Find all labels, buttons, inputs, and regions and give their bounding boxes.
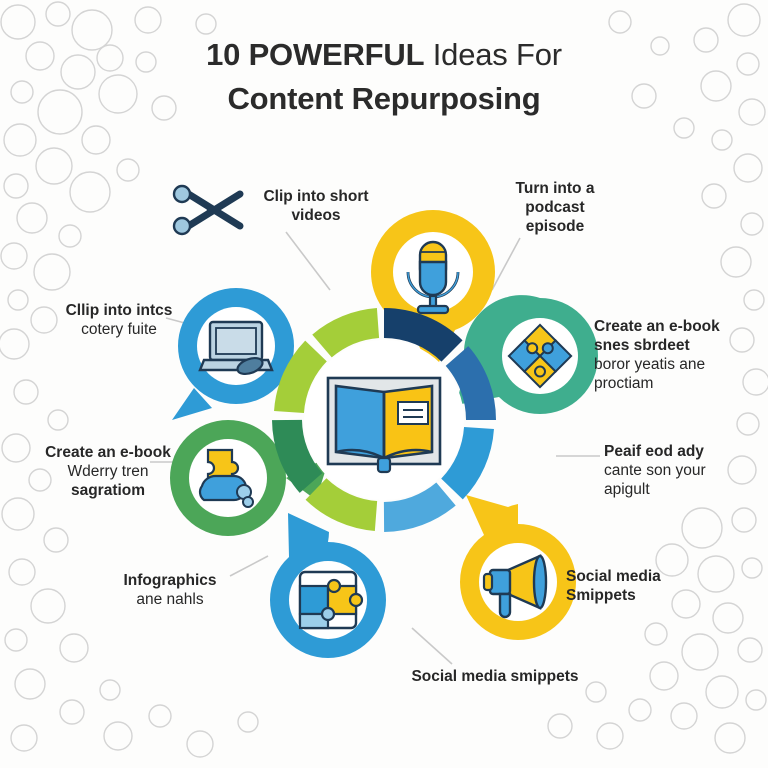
label-turn-into-a-podcast-episode: Turn into a podcast episode <box>490 180 620 237</box>
label-line: Social media smippets <box>380 668 610 687</box>
label-line: Smippets <box>566 587 726 606</box>
label-line: apigult <box>604 481 764 500</box>
label-line: cotery fuite <box>44 321 194 340</box>
label-social-media-smippets-right: Social media Smippets <box>566 568 726 606</box>
label-line: Cllip into intcs <box>44 302 194 321</box>
label-line: cante son your <box>604 462 764 481</box>
label-line: sagratiom <box>18 482 198 501</box>
connector-clip-short <box>286 232 330 290</box>
infographic-canvas: 10 POWERFUL Ideas For Content Repurposin… <box>0 0 768 768</box>
label-create-an-e-book-right: Create an e-book snes sbrdeet boror yeat… <box>594 318 766 394</box>
label-line: episode <box>490 218 620 237</box>
label-social-media-smippets-bottom: Social media smippets <box>380 668 610 687</box>
label-cllip-into-intcs: Cllip into intcs cotery fuite <box>44 302 194 340</box>
title-rest: Ideas For <box>424 37 562 72</box>
label-line: Infographics <box>90 572 250 591</box>
label-line: Create an e-book <box>18 444 198 463</box>
label-line: boror yeatis ane <box>594 356 766 375</box>
label-line: Clip into short <box>246 188 386 207</box>
label-clip-into-short-videos: Clip into short videos <box>246 188 386 226</box>
open-book-icon <box>328 378 440 472</box>
title-line-2: Content Repurposing <box>0 80 768 119</box>
title-line-1: 10 POWERFUL Ideas For <box>0 36 768 75</box>
label-line: Turn into a <box>490 180 620 199</box>
label-line: podcast <box>490 199 620 218</box>
label-line: snes sbrdeet <box>594 337 766 356</box>
laptop-mouse-icon <box>200 322 272 377</box>
label-line: ane nahls <box>90 591 250 610</box>
label-infographics-ane-nahls: Infographics ane nahls <box>90 572 250 610</box>
page-title: 10 POWERFUL Ideas For Content Repurposin… <box>0 36 768 119</box>
scissors-icon <box>168 182 254 238</box>
connector-podcast <box>492 238 520 290</box>
connector-social-bottom <box>412 628 452 664</box>
title-strong: 10 POWERFUL <box>206 37 424 72</box>
label-line: proctiam <box>594 375 766 394</box>
label-line: Wderry tren <box>18 463 198 482</box>
petal-social-media[interactable] <box>460 495 576 640</box>
label-create-an-e-book-left: Create an e-book Wderry tren sagratiom <box>18 444 198 501</box>
petal-social-snippets[interactable] <box>270 513 386 658</box>
label-line: videos <box>246 207 386 226</box>
label-line: Create an e-book <box>594 318 766 337</box>
label-peaif-eod-ady: Peaif eod ady cante son your apigult <box>604 443 764 500</box>
label-line: Social media <box>566 568 726 587</box>
label-line: Peaif eod ady <box>604 443 764 462</box>
